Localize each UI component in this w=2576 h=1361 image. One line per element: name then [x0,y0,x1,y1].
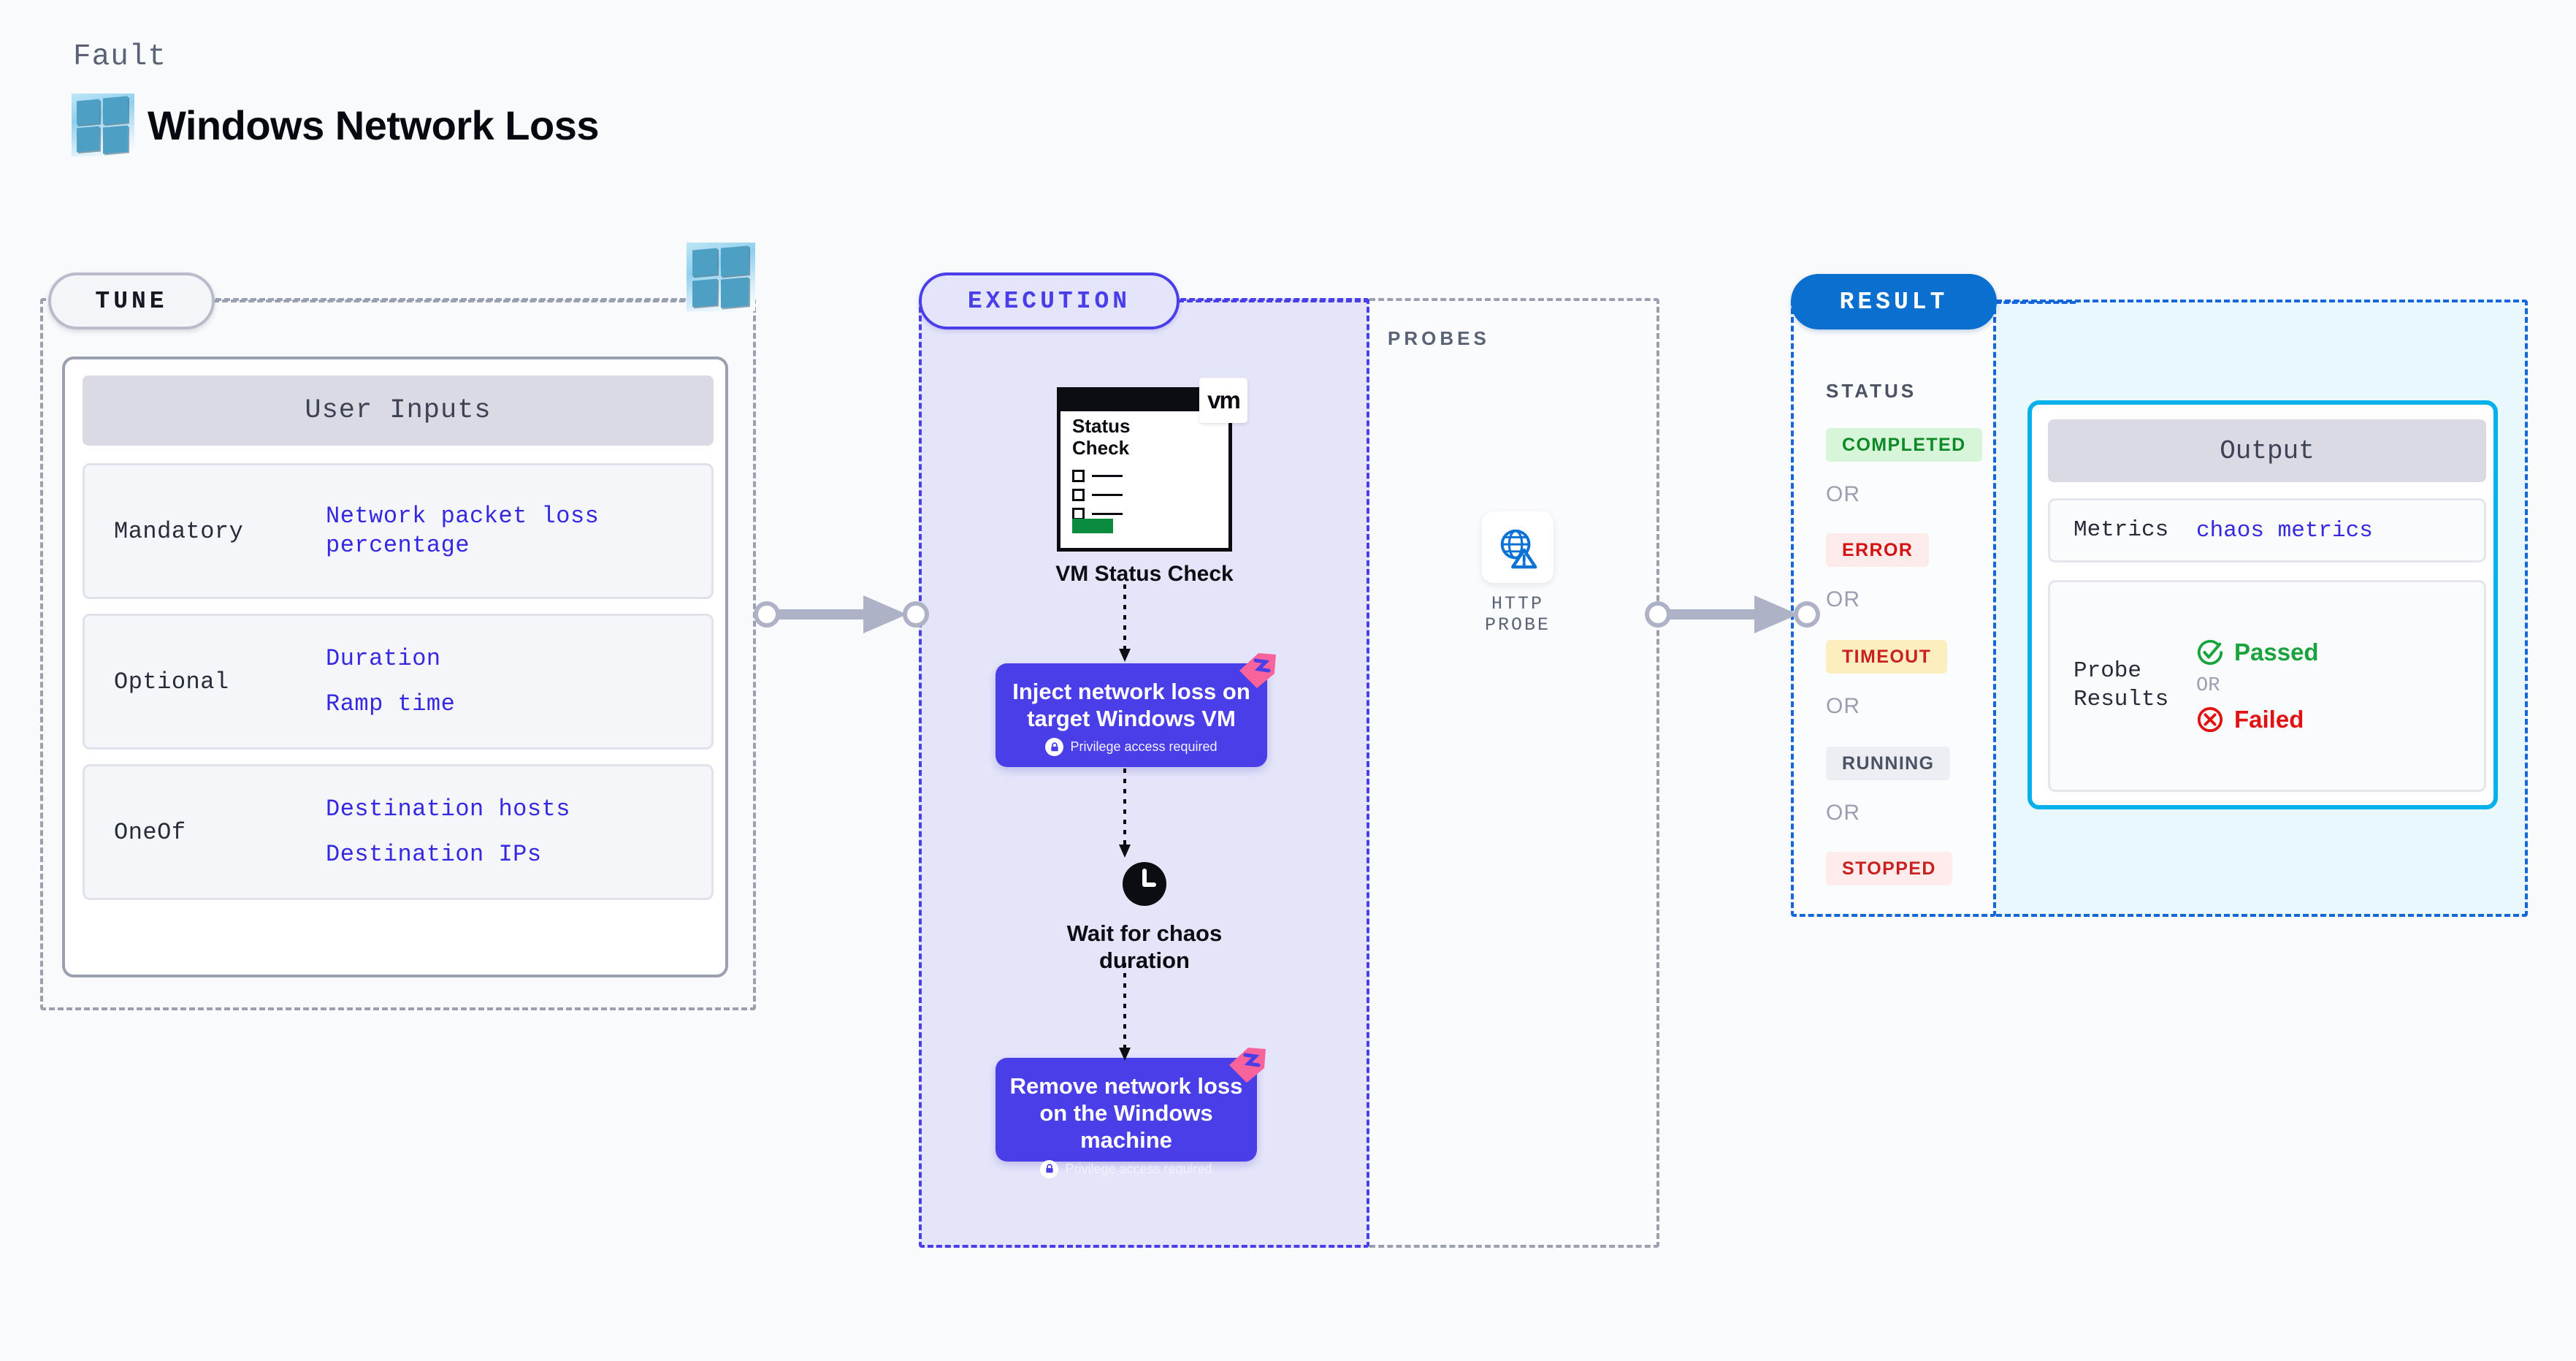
tune-value-link[interactable]: Destination hosts [326,795,570,824]
tune-value-link[interactable]: Duration [326,644,455,674]
fault-kicker-label: Fault [73,40,167,74]
tune-row-oneof: OneOf Destination hosts Destination IPs [83,764,714,900]
tune-row-mandatory: Mandatory Network packet loss percentage [83,463,714,599]
http-probe-label: HTTP PROBE [1459,593,1576,636]
remove-node-privilege: Privilege access required [1009,1160,1244,1178]
output-metrics-value[interactable]: chaos metrics [2196,518,2373,544]
probe-failed-label: Failed [2234,706,2304,733]
status-badge: TIMEOUT [1826,640,1947,674]
wait-node-label: Wait for chaos duration [1046,920,1243,974]
connector-vm-to-inject [1117,584,1132,666]
execution-section-pill[interactable]: EXECUTION [919,272,1180,329]
windows-logo-icon [687,243,755,311]
inject-network-loss-node[interactable]: Inject network loss on target Windows VM… [995,663,1267,767]
lock-icon [1040,1160,1058,1178]
tune-section-pill[interactable]: TUNE [48,272,215,329]
inject-node-privilege: Privilege access required [1009,738,1254,756]
vm-status-check-node[interactable]: Status Check vm VM Status Check [1046,387,1243,587]
remove-node-title: Remove network loss on the Windows machi… [1009,1072,1244,1154]
wait-for-chaos-duration-node[interactable]: Wait for chaos duration [1046,861,1243,974]
status-badge: ERROR [1826,533,1929,567]
tune-row-key: Mandatory [85,518,326,545]
probe-result-failed: Failed [2196,706,2319,733]
connector-inject-to-wait [1117,769,1132,862]
status-column-label: STATUS [1826,380,1916,403]
result-section-pill[interactable]: RESULT [1791,274,1997,329]
windows-logo-icon [72,94,134,156]
status-badge-completed: COMPLETED [1826,428,1982,462]
status-badge: COMPLETED [1826,428,1982,462]
user-inputs-card: User Inputs Mandatory Network packet los… [62,357,728,977]
vm-status-check-icon: Status Check vm [1057,387,1232,552]
http-probe-node[interactable]: HTTP PROBE [1459,511,1576,636]
tune-row-values: Network packet loss percentage [326,502,632,560]
tune-dash-connector [213,300,746,302]
status-badge-timeout: TIMEOUT [1826,640,1947,674]
globe-warning-icon [1482,511,1553,583]
tune-value-link[interactable]: Ramp time [326,690,455,719]
status-or-label-2: OR [1826,587,1860,612]
result-dash-connector [1995,301,2076,304]
tune-row-values: Duration Ramp time [326,644,455,719]
check-circle-icon [2196,638,2224,666]
x-circle-icon [2196,706,2224,733]
page-title: Windows Network Loss [148,102,599,149]
status-or-label-4: OR [1826,801,1860,826]
status-badge: STOPPED [1826,852,1952,885]
chaos-ribbon-icon [1237,652,1279,690]
inject-privilege-label: Privilege access required [1070,739,1217,755]
tune-row-optional: Optional Duration Ramp time [83,614,714,750]
status-badge-error: ERROR [1826,533,1929,567]
output-row-metrics: Metrics chaos metrics [2048,498,2486,563]
tune-value-link[interactable]: Network packet loss percentage [326,502,632,560]
output-metrics-key: Metrics [2050,516,2196,545]
clock-icon [1121,861,1168,907]
probes-region [1369,298,1659,1248]
connector-probes-to-result [1645,588,1820,641]
status-badge-stopped: STOPPED [1826,852,1952,885]
output-probe-results-key: Probe Results [2050,657,2196,714]
chaos-ribbon-icon [1226,1046,1269,1084]
status-or-label-1: OR [1826,482,1860,507]
output-card: Output Metrics chaos metrics Probe Resul… [2027,400,2498,809]
probe-result-passed: Passed [2196,638,2319,666]
lock-icon [1045,738,1063,756]
connector-wait-to-remove [1117,963,1132,1065]
status-badge-running: RUNNING [1826,747,1950,780]
vm-status-green-bar [1072,519,1113,533]
tune-row-values: Destination hosts Destination IPs [326,795,570,869]
remove-network-loss-node[interactable]: Remove network loss on the Windows machi… [995,1058,1257,1162]
execution-dash-connector [1178,300,1369,302]
vm-card-title: Status Check [1072,416,1182,460]
status-badge: RUNNING [1826,747,1950,780]
diagram-canvas: Fault Windows Network Loss TUNE EXECUTIO… [0,0,2576,1361]
tune-row-key: Optional [85,668,326,695]
inject-node-title: Inject network loss on target Windows VM [1009,678,1254,732]
probes-section-label: PROBES [1388,327,1490,350]
probe-passed-label: Passed [2234,638,2319,666]
user-inputs-title: User Inputs [83,375,714,446]
tune-value-link[interactable]: Destination IPs [326,840,570,869]
vmware-badge-icon: vm [1199,378,1247,423]
tune-row-key: OneOf [85,819,326,846]
output-card-title: Output [2048,419,2486,482]
probe-or-label: OR [2196,675,2319,697]
status-or-label-3: OR [1826,694,1860,719]
vm-status-check-label: VM Status Check [1046,562,1243,587]
connector-tune-to-execution [754,588,929,641]
fault-title-row: Windows Network Loss [72,94,599,156]
output-row-probe-results: Probe Results Passed OR Failed [2048,580,2486,792]
remove-privilege-label: Privilege access required [1065,1162,1212,1177]
output-probe-results-values: Passed OR Failed [2196,638,2319,733]
